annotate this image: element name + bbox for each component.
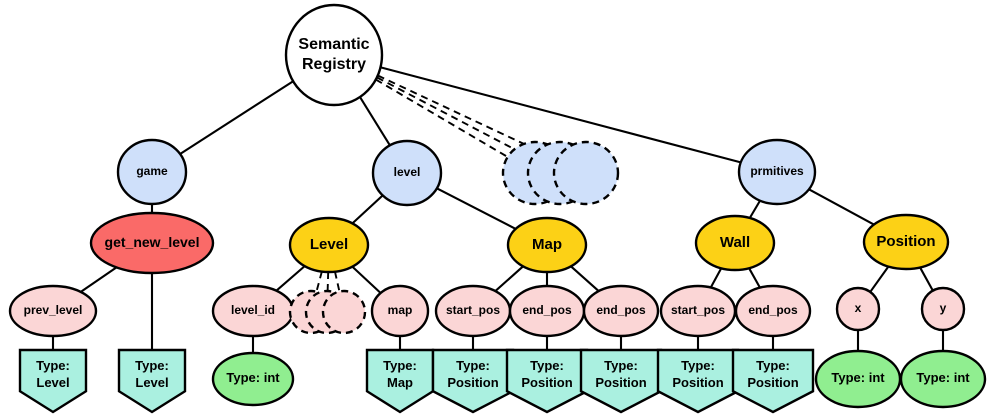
node-t_map_start[interactable]: Type:Position (433, 350, 513, 412)
edge-Level-to-pghost2 (328, 272, 329, 291)
pentagon-shape (733, 350, 813, 412)
pentagon-shape (507, 350, 587, 412)
edge-level-to-Map (437, 188, 516, 229)
edge-level-to-Level (352, 195, 382, 223)
node-map_start[interactable]: start_pos (436, 286, 510, 336)
node-get_new_level[interactable]: get_new_level (91, 213, 213, 273)
edge-Map-to-map_end2 (571, 266, 599, 291)
edge-root-to-level (360, 97, 390, 145)
node-wall_end[interactable]: end_pos (736, 286, 810, 336)
ellipse-shape-dashed (323, 291, 365, 333)
ellipse-shape (213, 286, 293, 336)
node-root[interactable]: SemanticRegistry (286, 5, 382, 105)
pentagon-shape (581, 350, 661, 412)
pentagon-shape (433, 350, 513, 412)
edge-prmitives-to-Position (809, 189, 874, 224)
ellipse-shape (510, 286, 584, 336)
node-ghost3[interactable] (554, 142, 618, 204)
node-map[interactable]: map (372, 286, 428, 336)
pentagon-shape (119, 350, 185, 412)
node-wall_start[interactable]: start_pos (661, 286, 735, 336)
semantic-registry-graph: SemanticRegistrygamelevelprmitivesget_ne… (0, 0, 998, 417)
ellipse-shape (922, 288, 964, 330)
node-t_level_id[interactable]: Type: int (213, 353, 293, 405)
ellipse-shape (696, 216, 774, 270)
ellipse-shape (584, 286, 658, 336)
edge-get_new_level-to-prev_level (81, 267, 117, 292)
node-prev_level[interactable]: prev_level (10, 286, 96, 336)
node-t_map_end1[interactable]: Type:Position (507, 350, 587, 412)
ellipse-shape (816, 351, 900, 407)
node-pghost3[interactable] (323, 291, 365, 333)
edge-Level-to-pghost1 (316, 272, 321, 292)
pentagon-shape (20, 350, 86, 412)
node-level[interactable]: level (373, 141, 441, 205)
node-map_end2[interactable]: end_pos (584, 286, 658, 336)
ellipse-shape (373, 141, 441, 205)
ellipse-shape (10, 286, 96, 336)
ellipse-shape (118, 140, 186, 204)
edge-Wall-to-wall_end (749, 268, 760, 287)
ellipse-shape (286, 5, 382, 105)
edge-Position-to-pos_y (920, 267, 933, 290)
node-game[interactable]: game (118, 140, 186, 204)
node-t_wall_start[interactable]: Type:Position (658, 350, 738, 412)
node-Position[interactable]: Position (864, 215, 948, 269)
ellipse-shape (736, 286, 810, 336)
node-layer: SemanticRegistrygamelevelprmitivesget_ne… (10, 5, 985, 412)
edge-Position-to-pos_x (870, 267, 888, 292)
ellipse-shape (864, 215, 948, 269)
node-prmitives[interactable]: prmitives (739, 140, 815, 204)
ellipse-shape (837, 288, 879, 330)
ellipse-shape (91, 213, 213, 273)
diagram-canvas: SemanticRegistrygamelevelprmitivesget_ne… (0, 0, 998, 417)
ellipse-shape (436, 286, 510, 336)
ellipse-shape (661, 286, 735, 336)
ellipse-shape-dashed (554, 142, 618, 204)
node-map_end1[interactable]: end_pos (510, 286, 584, 336)
edge-Wall-to-wall_start (711, 268, 721, 287)
node-t_prev_level[interactable]: Type:Level (20, 350, 86, 412)
ellipse-shape (213, 353, 293, 405)
edge-Level-to-pghost3 (335, 272, 339, 292)
node-pos_y[interactable]: y (922, 288, 964, 330)
node-t_gnl[interactable]: Type:Level (119, 350, 185, 412)
pentagon-shape (367, 350, 433, 412)
edge-root-to-game (180, 81, 293, 154)
edge-Level-to-level_id (276, 266, 304, 291)
edge-prmitives-to-Wall (750, 201, 760, 218)
ellipse-shape (901, 351, 985, 407)
node-level_id[interactable]: level_id (213, 286, 293, 336)
ellipse-shape (739, 140, 815, 204)
edge-Map-to-map_start (495, 266, 523, 291)
node-Level[interactable]: Level (290, 218, 368, 272)
node-t_pos_y[interactable]: Type: int (901, 351, 985, 407)
ellipse-shape (290, 218, 368, 272)
node-t_wall_end[interactable]: Type:Position (733, 350, 813, 412)
node-t_map[interactable]: Type:Map (367, 350, 433, 412)
node-Map[interactable]: Map (508, 218, 586, 272)
node-Wall[interactable]: Wall (696, 216, 774, 270)
node-pos_x[interactable]: x (837, 288, 879, 330)
edge-Level-to-map (352, 267, 380, 293)
node-t_map_end2[interactable]: Type:Position (581, 350, 661, 412)
ellipse-shape (508, 218, 586, 272)
pentagon-shape (658, 350, 738, 412)
ellipse-shape (372, 286, 428, 336)
node-t_pos_x[interactable]: Type: int (816, 351, 900, 407)
